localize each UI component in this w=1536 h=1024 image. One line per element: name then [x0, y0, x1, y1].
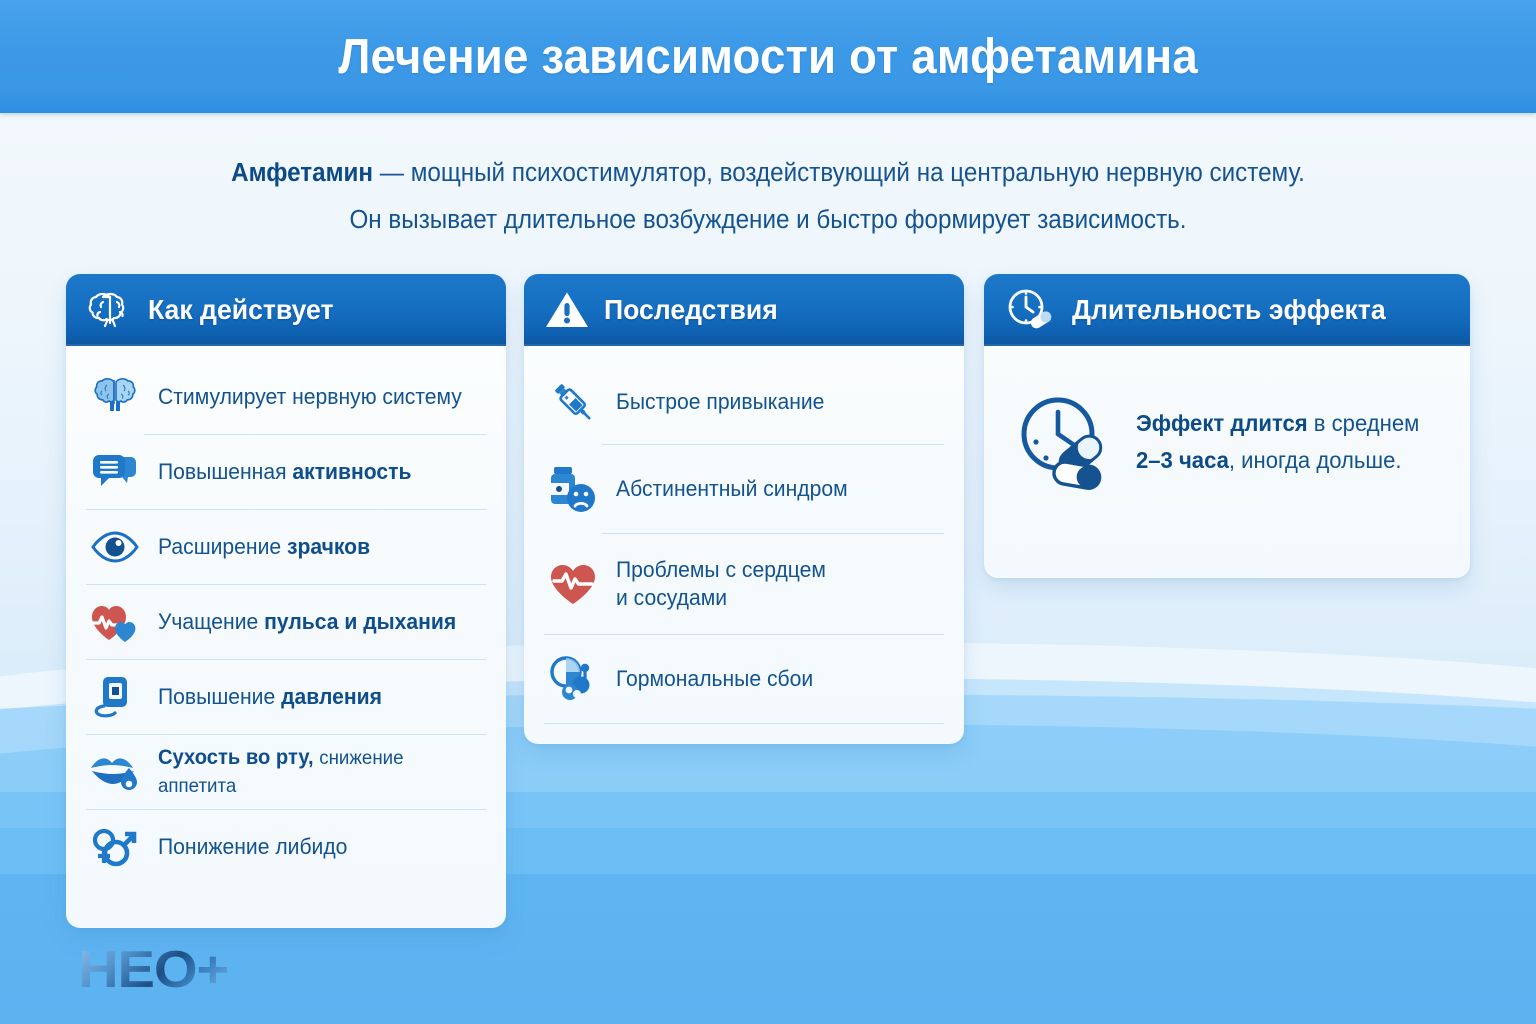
list-item: Повышение давления — [86, 660, 486, 734]
card-how-it-works: Как действует Стимулирует нервную систем… — [66, 274, 506, 928]
intro-line-2: Он вызывает длительное возбуждение и быс… — [38, 197, 1497, 244]
clock-capsules-icon — [1014, 390, 1118, 494]
list-item: Повышенная активность — [86, 435, 486, 509]
list-item: Понижение либидо — [86, 810, 486, 884]
eye-icon — [86, 520, 144, 574]
list-divider — [544, 723, 944, 724]
list-item-label: Стимулирует нервную систему — [158, 383, 462, 411]
list-item: Расширение зрачков — [86, 510, 486, 584]
intro-lead-word: Амфетамин — [231, 159, 373, 187]
brain-icon — [86, 370, 144, 424]
list-item-label: Понижение либидо — [158, 833, 347, 861]
hormone-molecule-icon — [544, 652, 602, 706]
page-title: Лечение зависимости от амфетамина — [338, 29, 1198, 85]
list-item-label: Сухость во рту, снижение аппетита — [158, 744, 473, 800]
list-item-label: Повышение давления — [158, 683, 382, 711]
card-how-it-works-body: Стимулирует нервную систему Повышенная а… — [66, 346, 506, 894]
blood-pressure-monitor-icon — [86, 670, 144, 724]
list-item: Гормональные сбои — [544, 635, 944, 723]
list-item: Абстинентный синдром — [544, 445, 944, 533]
list-item-label: Повышенная активность — [158, 458, 411, 486]
speech-bubbles-icon — [86, 445, 144, 499]
list-item-label: Учащение пульса и дыхания — [158, 608, 456, 636]
gender-symbols-icon — [86, 820, 144, 874]
heart-pulse-icon — [544, 557, 602, 611]
page-header-banner: Лечение зависимости от амфетамина — [0, 0, 1536, 113]
list-item-label: Абстинентный синдром — [616, 475, 848, 503]
card-effect-duration: Длительность эффекта Эф — [984, 274, 1470, 578]
list-item-label: Проблемы с сердцеми сосудами — [616, 556, 826, 612]
brain-outline-icon — [86, 290, 134, 330]
list-item: Учащение пульса и дыхания — [86, 585, 486, 659]
list-item: Быстрое привыкание — [544, 360, 944, 444]
card-consequences-body: Быстрое привыкание Абстинентный синдром — [524, 346, 964, 734]
effect-duration-text: Эффект длится в среднем 2–3 часа, иногда… — [1136, 405, 1419, 479]
list-item: Стимулирует нервную систему — [86, 360, 486, 434]
list-item-label: Быстрое привыкание — [616, 388, 824, 416]
brand-logo: НЕО+ — [78, 940, 217, 1000]
list-item-label: Гормональные сбои — [616, 665, 813, 693]
list-item: Сухость во рту, снижение аппетита — [86, 735, 486, 809]
syringe-icon — [544, 375, 602, 429]
brand-logo-text: НЕО+ — [78, 940, 228, 1000]
clock-pills-icon — [1004, 287, 1058, 333]
hearts-pulse-icon — [86, 595, 144, 649]
card-consequences: Последствия Быстрое привыкание — [524, 274, 964, 744]
list-item-label: Расширение зрачков — [158, 533, 370, 561]
card-effect-duration-body: Эффект длится в среднем 2–3 часа, иногда… — [984, 346, 1470, 534]
list-item: Проблемы с сердцеми сосудами — [544, 534, 944, 634]
intro-line-1-rest: — мощный психостимулятор, воздействующий… — [373, 159, 1305, 187]
pill-bottle-sad-face-icon — [544, 462, 602, 516]
card-how-it-works-header: Как действует — [66, 274, 506, 346]
card-consequences-title: Последствия — [604, 294, 778, 326]
card-effect-duration-title: Длительность эффекта — [1072, 294, 1386, 326]
card-consequences-header: Последствия — [524, 274, 964, 346]
intro-line-1: Амфетамин — мощный психостимулятор, возд… — [38, 150, 1497, 197]
intro-paragraph: Амфетамин — мощный психостимулятор, возд… — [38, 150, 1497, 244]
card-how-it-works-title: Как действует — [148, 294, 334, 326]
lips-drop-icon — [86, 745, 144, 799]
card-effect-duration-header: Длительность эффекта — [984, 274, 1470, 346]
warning-triangle-icon — [544, 289, 590, 331]
